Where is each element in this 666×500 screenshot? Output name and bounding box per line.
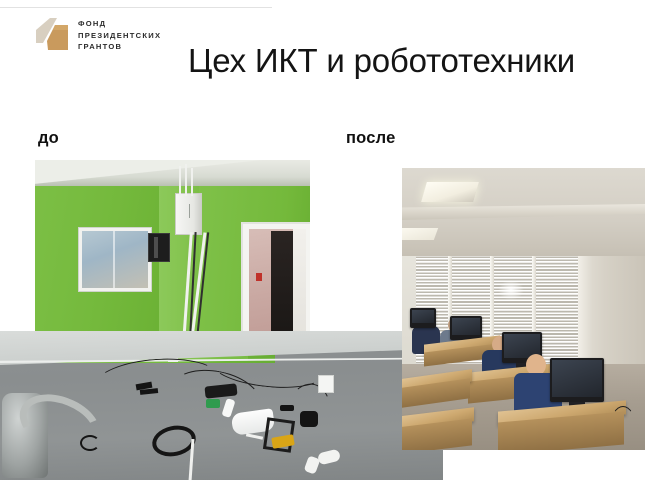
logo-mark-icon: [34, 16, 84, 61]
ceiling-lamp-icon: [421, 182, 479, 202]
wall-socket: [318, 375, 334, 393]
battery-pack: [300, 411, 318, 427]
slide-canvas: ФОНД ПРЕЗИДЕНТСКИХ ГРАНТОВ Цех ИКТ и роб…: [0, 0, 666, 500]
wall-sign: [256, 273, 262, 281]
window-frame: [79, 228, 151, 291]
ceiling-slope: [35, 160, 310, 190]
monitor: [450, 316, 482, 340]
logo-line-1: ФОНД: [78, 18, 161, 30]
cable-conduit: [179, 166, 181, 196]
caption-before: до: [38, 129, 59, 148]
cable-loop: [80, 435, 100, 451]
electrical-cabinet: [175, 193, 202, 235]
before-photo-floor-tools: [0, 331, 443, 480]
door-dark-panel: [271, 231, 293, 341]
monitor: [410, 308, 436, 328]
classroom-scene: [402, 168, 645, 450]
slide-title: Цех ИКТ и робототехники: [188, 42, 575, 80]
window-glare: [498, 280, 524, 300]
logo-wordmark: ФОНД ПРЕЗИДЕНТСКИХ ГРАНТОВ: [78, 18, 161, 53]
cable-conduit: [191, 168, 193, 196]
caption-after: после: [346, 129, 395, 148]
wall-opening: [148, 233, 170, 262]
monitor: [550, 358, 604, 402]
after-photo-computer-class: [402, 168, 645, 450]
logo-line-3: ГРАНТОВ: [78, 41, 161, 53]
floor-tool: [280, 405, 294, 411]
logo-line-2: ПРЕЗИДЕНТСКИХ: [78, 30, 161, 42]
fond-prezidentskih-grantov-logo: ФОНД ПРЕЗИДЕНТСКИХ ГРАНТОВ: [34, 16, 184, 64]
top-divider-line: [0, 7, 272, 8]
ceiling-lamp-icon: [402, 228, 438, 240]
cable-conduit: [185, 164, 187, 196]
desk-cable: [610, 406, 636, 448]
green-tool: [206, 399, 220, 408]
